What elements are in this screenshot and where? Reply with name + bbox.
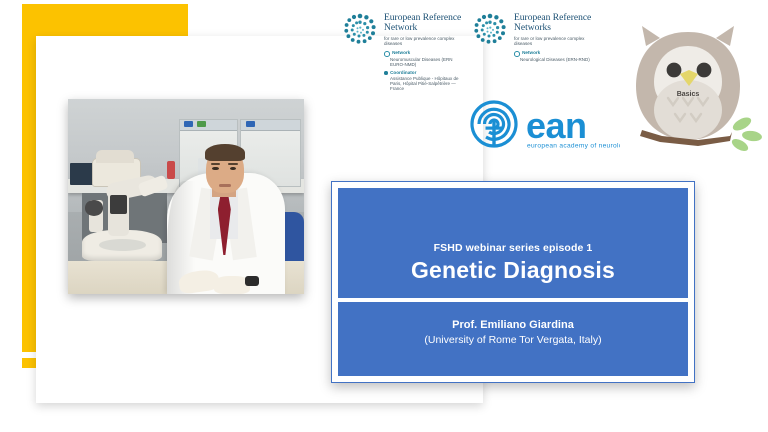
ern-dot-spiral-icon xyxy=(343,12,377,46)
lab-bottle-red xyxy=(167,161,175,179)
fume-hood-indicator xyxy=(246,121,255,127)
owl-eye-left xyxy=(667,63,682,78)
logo-ean: ean european academy of neurology xyxy=(468,100,620,152)
ern-coordinator-label: Coordinator xyxy=(390,70,416,75)
logo-ern-rnd: European Reference Networks for rare or … xyxy=(473,12,593,62)
speaker-affiliation: (University of Rome Tor Vergata, Italy) xyxy=(424,334,601,346)
ern-dot-spiral-icon xyxy=(473,12,507,46)
microscope-stage xyxy=(99,239,146,251)
ern-network-value: Neuromuscular Diseases (ERN EURO-NMD) xyxy=(390,57,463,67)
eyebrow-right xyxy=(228,163,237,166)
ern-network-row: Network xyxy=(384,50,463,57)
mouth xyxy=(219,184,231,186)
ern-bullet-solid-icon xyxy=(384,71,388,75)
microscope-focus-knob xyxy=(85,200,104,216)
fume-hood-indicator xyxy=(184,121,193,127)
speaker-photo xyxy=(68,99,304,294)
wristwatch xyxy=(245,276,259,286)
title-card-speaker: Prof. Emiliano Giardina (University of R… xyxy=(338,302,688,376)
page-title: Genetic Diagnosis xyxy=(411,257,615,284)
speaker-name: Prof. Emiliano Giardina xyxy=(452,319,574,331)
hair xyxy=(205,144,245,162)
title-card-header: FSHD webinar series episode 1 Genetic Di… xyxy=(338,188,688,298)
title-card: FSHD webinar series episode 1 Genetic Di… xyxy=(331,181,695,383)
series-eyebrow: FSHD webinar series episode 1 xyxy=(434,242,593,254)
speaker-photo-frame xyxy=(68,99,304,294)
yellow-bracket-top xyxy=(22,4,188,37)
eyebrow-left xyxy=(211,163,220,166)
fume-hood-indicator-green xyxy=(197,121,206,127)
ern-network-value: Neurological Diseases (ERN-RND) xyxy=(520,57,593,62)
logo-owl: Basics xyxy=(612,12,764,157)
ern-network-label: Network xyxy=(392,50,410,55)
owl-eye-right xyxy=(697,63,712,78)
ern-bullet-hollow-icon xyxy=(514,51,520,57)
microscope-objective xyxy=(110,195,127,215)
owl-chest-label: Basics xyxy=(677,91,700,98)
lab-centrifuge-lid xyxy=(96,150,134,164)
ern-bullet-hollow-icon xyxy=(384,51,390,57)
webinar-title-slide: European Reference Network for rare or l… xyxy=(0,0,768,432)
ern-coordinator-value: Assistance Publique - Hôpitaux de Paris,… xyxy=(390,76,463,92)
logo-ern-euro-nmd: European Reference Network for rare or l… xyxy=(343,12,463,91)
ern-subtitle: for rare or low prevalence complex disea… xyxy=(514,36,593,47)
ern-subtitle: for rare or low prevalence complex disea… xyxy=(384,36,463,47)
ern-network-label: Network xyxy=(522,50,540,55)
owl-icon: Basics xyxy=(636,26,763,153)
owl-leaves xyxy=(730,115,763,154)
ern-title: European Reference Network xyxy=(384,13,463,33)
ern-network-row: Network xyxy=(514,50,593,57)
ern-title: European Reference Networks xyxy=(514,13,593,33)
ean-wordmark: ean xyxy=(526,105,587,146)
ean-tagline: european academy of neurology xyxy=(527,143,620,150)
